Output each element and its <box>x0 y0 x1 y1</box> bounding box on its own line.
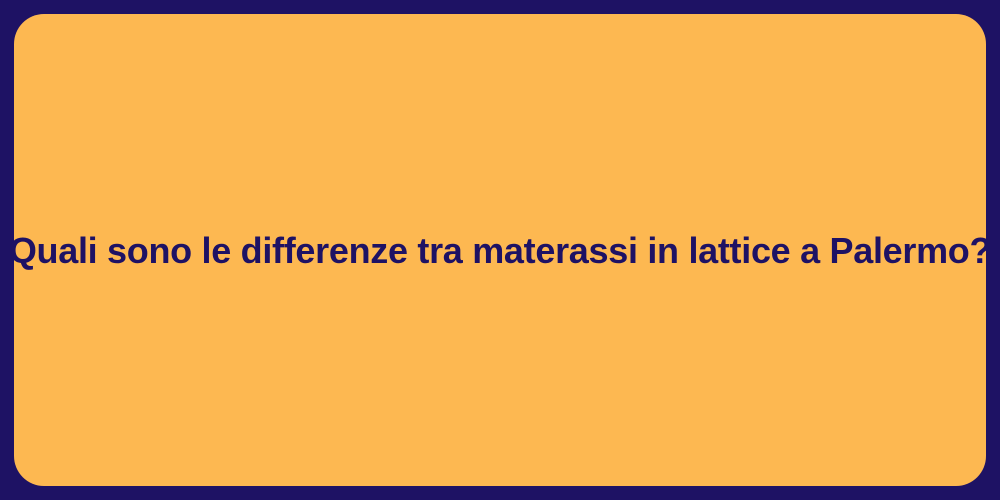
page-title: Quali sono le differenze tra materassi i… <box>9 228 991 273</box>
question-card: Quali sono le differenze tra materassi i… <box>14 14 986 486</box>
card-frame: Quali sono le differenze tra materassi i… <box>0 0 1000 500</box>
